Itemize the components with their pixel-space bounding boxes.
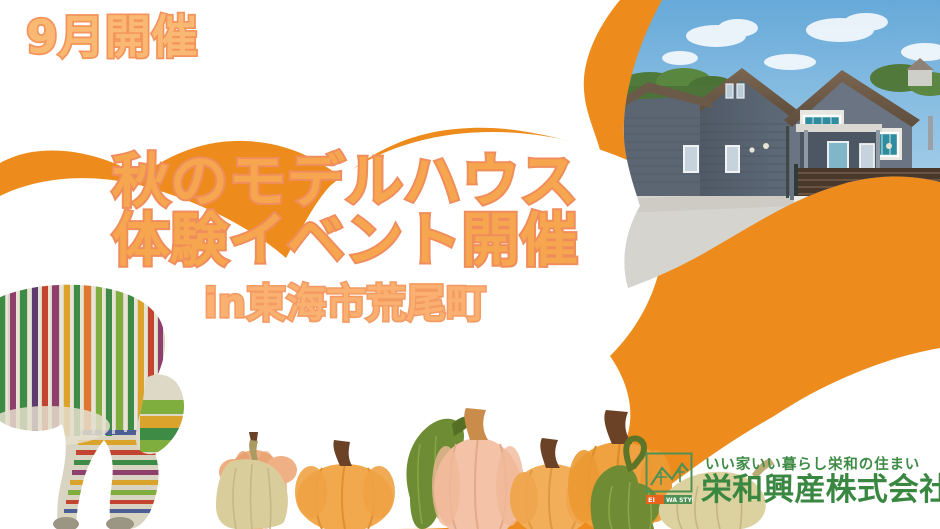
month-badge: 9月開催 xyxy=(26,14,198,60)
event-banner: 9月開催 秋のモデルハウス 体験イベント開催 in東海市荒尾町 EI WA ST… xyxy=(0,0,940,529)
eiwa-style-house-mark: EI WA STYLE xyxy=(645,452,693,506)
logo-company-name: 栄和興産株式会社 xyxy=(701,475,940,506)
pumpkin-orange-classic xyxy=(295,440,395,529)
logo-tagline: いい家いい暮らし栄和の住まい xyxy=(701,453,940,474)
logo-text-block: いい家いい暮らし栄和の住まい 栄和興産株式会社 xyxy=(701,453,940,506)
logo-badge-text-b: WA STYLE xyxy=(666,497,693,504)
headline-line-1: 秋のモデルハウス xyxy=(0,152,690,211)
headline-block: 秋のモデルハウス 体験イベント開催 in東海市荒尾町 xyxy=(0,152,690,324)
headline-line-2: 体験イベント開催 xyxy=(0,211,690,270)
company-logo[interactable]: EI WA STYLE いい家いい暮らし栄和の住まい 栄和興産株式会社 xyxy=(645,452,940,506)
gourd-cream xyxy=(216,440,288,529)
logo-badge-text-a: EI xyxy=(648,496,655,504)
subtitle-location: in東海市荒尾町 xyxy=(0,284,690,324)
logo-roofline xyxy=(651,464,688,485)
